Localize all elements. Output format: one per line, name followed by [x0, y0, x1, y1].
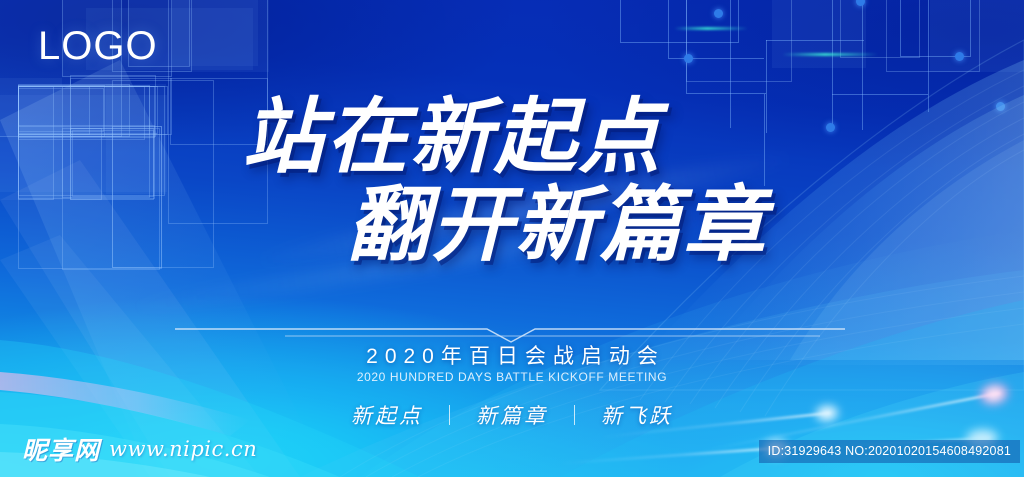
tagline-row: 新起点 新篇章 新飞跃	[0, 400, 1024, 430]
watermark-url: www.nipic.cn	[109, 437, 257, 461]
title-line-1: 站在新起点	[0, 96, 1024, 180]
subtitle-chinese: 2020年百日会战启动会	[0, 340, 1024, 370]
title-line-2: 翻开新篇章	[90, 184, 1024, 268]
watermark-site-name: 昵享网	[22, 431, 100, 467]
main-title: 站在新起点 翻开新篇章	[0, 96, 1024, 267]
logo-text[interactable]: LOGO	[38, 26, 158, 66]
poster-canvas: LOGO 站在新起点 翻开新篇章 2020年百日会战启动会 2020 HUNDR…	[0, 0, 1024, 477]
subtitle-english: 2020 HUNDRED DAYS BATTLE KICKOFF MEETING	[0, 370, 1024, 384]
tagline-item: 新飞跃	[575, 400, 699, 430]
image-id-badge: ID:31929643 NO:20201020154608492081	[759, 440, 1020, 463]
watermark: 昵享网 www.nipic.cn	[22, 431, 257, 467]
tagline-item: 新篇章	[450, 400, 574, 430]
tagline-item: 新起点	[325, 400, 449, 430]
